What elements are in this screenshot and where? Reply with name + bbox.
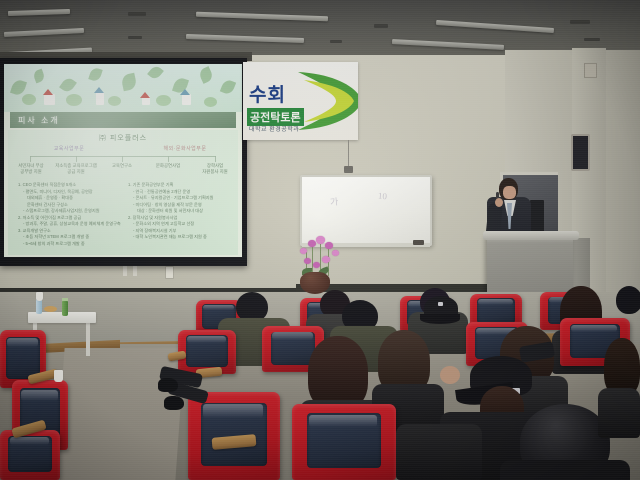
- slide-bullet: - 5~6세 창의 과학 프로그램 개발 중: [18, 241, 122, 248]
- org-chart-node: 문화공연사업: [147, 163, 189, 169]
- ceiling-cable: [348, 140, 349, 168]
- slide-title-bar: 피사 소개: [10, 112, 236, 128]
- ceiling-vent: [128, 36, 142, 39]
- auditorium-seat: [292, 404, 396, 480]
- slide-left-bullets: 1. CEO 문화센터 직접운영 5개소- 평면도, 미니어, 디자인, 목공예…: [18, 182, 122, 247]
- table-leg: [86, 322, 90, 356]
- slide-bullet: - 대학 노인복지관련 재능 프로그램 지원 중: [128, 234, 232, 241]
- slide-title: 피사 소개: [10, 115, 60, 126]
- presenter-hand: [495, 198, 503, 207]
- slide-right-bullets: 1. 기존 문화공연부문 기획- 연극 · 전통공연예술 2개단 운영- 콘서트…: [128, 182, 232, 241]
- slide-subtitle: ㈜ 피오플러스: [8, 133, 238, 143]
- ceiling-vent: [570, 20, 590, 24]
- wall-speaker: [571, 134, 590, 171]
- banner-line-1: 수회: [249, 80, 286, 107]
- paper-cup: [36, 292, 43, 301]
- ceiling-light-fixture: [436, 20, 554, 33]
- green-bottle: [62, 301, 68, 316]
- slide-body: ㈜ 피오플러스 교육사업부문 해외·문화사업부문 서민자녀 무상공부방 지원 저…: [8, 130, 238, 255]
- power-outlet: [165, 266, 174, 279]
- whiteboard-mark: 10: [378, 191, 388, 202]
- ceiling-vent: [128, 12, 146, 16]
- ceiling-vent: [584, 38, 600, 41]
- shoe: [164, 396, 184, 410]
- slide-header-illustration: [4, 64, 242, 112]
- org-chart-node: 서민자녀 무상공부방 지원: [10, 163, 52, 175]
- ceiling-light-fixture: [186, 34, 304, 43]
- ceiling-vent: [374, 24, 388, 28]
- org-chart-node: 교육연구소: [101, 163, 143, 169]
- auditorium-seat: [0, 430, 60, 480]
- org-chart-node: 장학사업자원봉사 지원: [194, 163, 236, 175]
- snack-plate: [44, 306, 57, 312]
- bottle-cap: [62, 298, 68, 301]
- org-chart-node: 저소득층 교육프로그램공급 지원: [55, 163, 97, 175]
- wall-banner: 수회 공전탁토론 대학교 환경공학과: [243, 62, 358, 140]
- ceiling-vent: [330, 40, 342, 43]
- paper-cup: [54, 370, 63, 382]
- ceiling-light-fixture: [196, 12, 328, 22]
- ceiling-light-fixture: [4, 28, 84, 37]
- banner-line-3: 대학교 환경공학과: [249, 124, 299, 133]
- whiteboard-mark: 가: [329, 195, 339, 209]
- wall-mounted-box: [584, 63, 597, 78]
- podium-top: [483, 231, 579, 240]
- slide-bullet: - 방과후, 주말, 공휴, 상설교육과 운영 예비체계 운영구축: [18, 221, 122, 228]
- lecture-hall-photo: 피사 소개 ㈜ 피오플러스 교육사업부문 해외·문화사업부문 서민자녀 무상공부…: [0, 0, 640, 480]
- ceiling-cable-box: [344, 166, 353, 173]
- projection-screen-frame: 피사 소개 ㈜ 피오플러스 교육사업부문 해외·문화사업부문 서민자녀 무상공부…: [0, 58, 247, 266]
- presenter-face: [503, 186, 516, 199]
- wall-conduit: [133, 266, 137, 276]
- org-chart-right-group-label: 해외·문화사업부문: [146, 145, 224, 152]
- shoe: [158, 378, 178, 392]
- ceiling-light-fixture: [392, 39, 504, 50]
- whiteboard-eraser: [413, 240, 424, 245]
- wall-conduit: [123, 266, 127, 276]
- projection-screen: 피사 소개 ㈜ 피오플러스 교육사업부문 해외·문화사업부문 서민자녀 무상공부…: [4, 64, 242, 257]
- orchid-pot: [300, 272, 330, 294]
- ceiling-light-fixture: [8, 9, 70, 16]
- org-chart-left-group-label: 교육사업부문: [34, 145, 104, 152]
- water-bottle: [36, 299, 42, 314]
